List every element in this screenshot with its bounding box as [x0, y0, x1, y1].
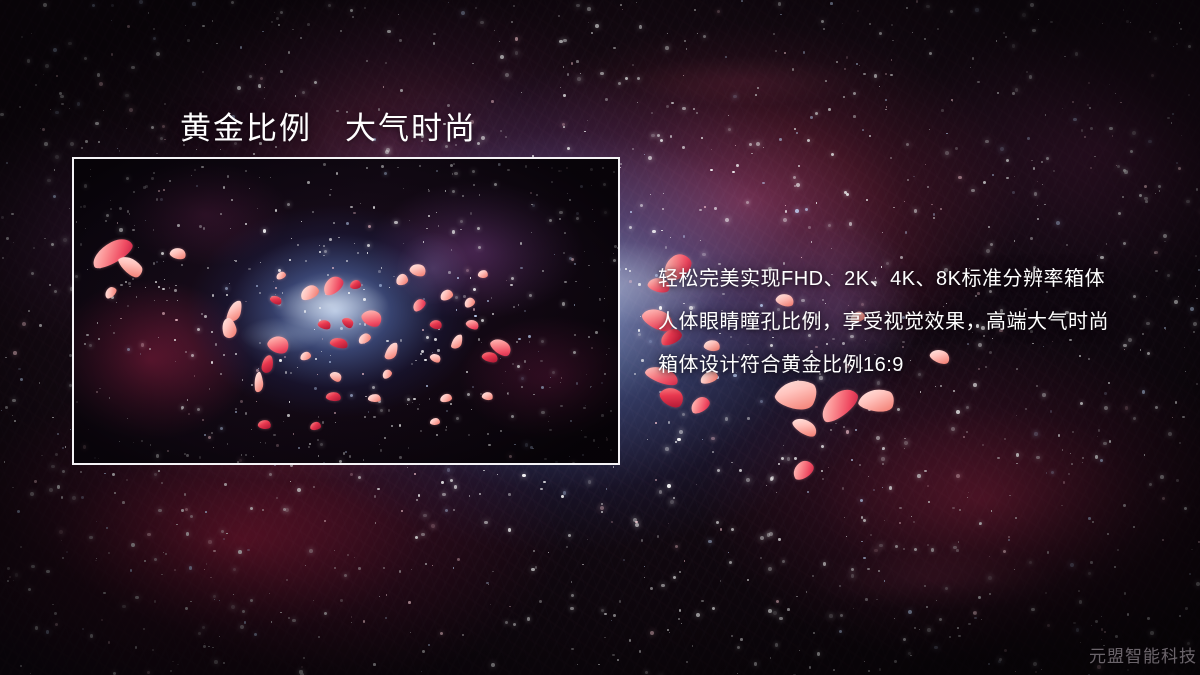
flower-petal [789, 458, 816, 483]
flower-petal [688, 394, 712, 416]
flower-petal [790, 414, 819, 440]
slide-canvas: 黄金比例 大气时尚 轻松完美实现FHD、2K、4K、8K标准分辨率箱体 人体眼睛… [0, 0, 1200, 675]
body-line: 轻松完美实现FHD、2K、4K、8K标准分辨率箱体 [658, 258, 1178, 301]
flower-petal [816, 384, 863, 426]
body-line: 人体眼睛瞳孔比例，享受视觉效果，高端大气时尚 [658, 301, 1178, 344]
flower-petal [857, 383, 897, 416]
watermark: 元盟智能科技 [1089, 642, 1197, 667]
body-text-block: 轻松完美实现FHD、2K、4K、8K标准分辨率箱体 人体眼睛瞳孔比例，享受视觉效… [658, 258, 1178, 387]
body-line: 箱体设计符合黄金比例16:9 [658, 344, 1178, 387]
